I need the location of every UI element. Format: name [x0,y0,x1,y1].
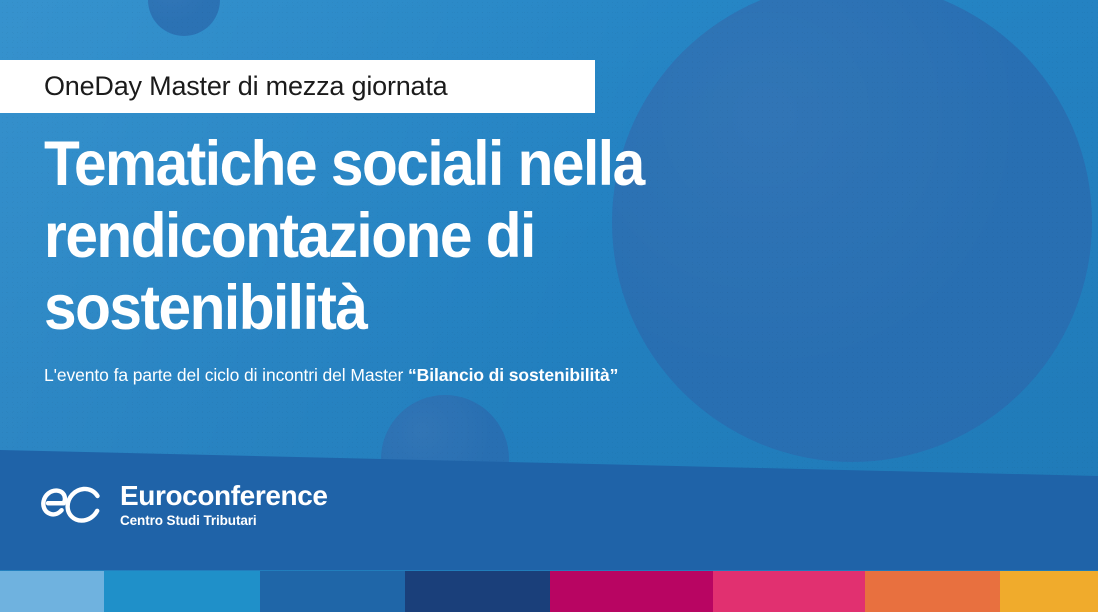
color-strip [0,571,1098,612]
euroconference-logo: Euroconference Centro Studi Tributari [40,482,328,528]
kicker-label: OneDay Master di mezza giornata [44,73,447,100]
subtitle: L'evento fa parte del ciclo di incontri … [44,364,618,386]
event-banner: OneDay Master di mezza giornata Tematich… [0,0,1098,612]
color-swatch-orange [865,571,1000,612]
color-swatch-steel-blue [260,571,405,612]
subtitle-quote-close: ” [610,365,619,385]
kicker-banner: OneDay Master di mezza giornata [0,60,595,113]
logo-name: Euroconference [120,482,328,511]
headline-line-3: sostenibilità [44,272,788,344]
subtitle-quote-open: “ [408,365,417,385]
logo-wordmark: Euroconference Centro Studi Tributari [120,482,328,528]
logo-tagline: Centro Studi Tributari [120,514,328,529]
page-title: Tematiche sociali nella rendicontazione … [44,128,844,344]
color-swatch-sky-blue [104,571,260,612]
headline-line-1: Tematiche sociali nella [44,128,788,200]
ec-monogram-icon [40,484,106,526]
headline-line-2: rendicontazione di [44,200,788,272]
color-swatch-magenta [550,571,713,612]
color-swatch-amber [1000,571,1098,612]
color-swatch-light-blue [0,571,104,612]
subtitle-emphasis: Bilancio di sostenibilità [417,365,610,385]
subtitle-lead: L'evento fa parte del ciclo di incontri … [44,365,408,385]
color-swatch-navy-blue [405,571,550,612]
color-swatch-pink [713,571,865,612]
